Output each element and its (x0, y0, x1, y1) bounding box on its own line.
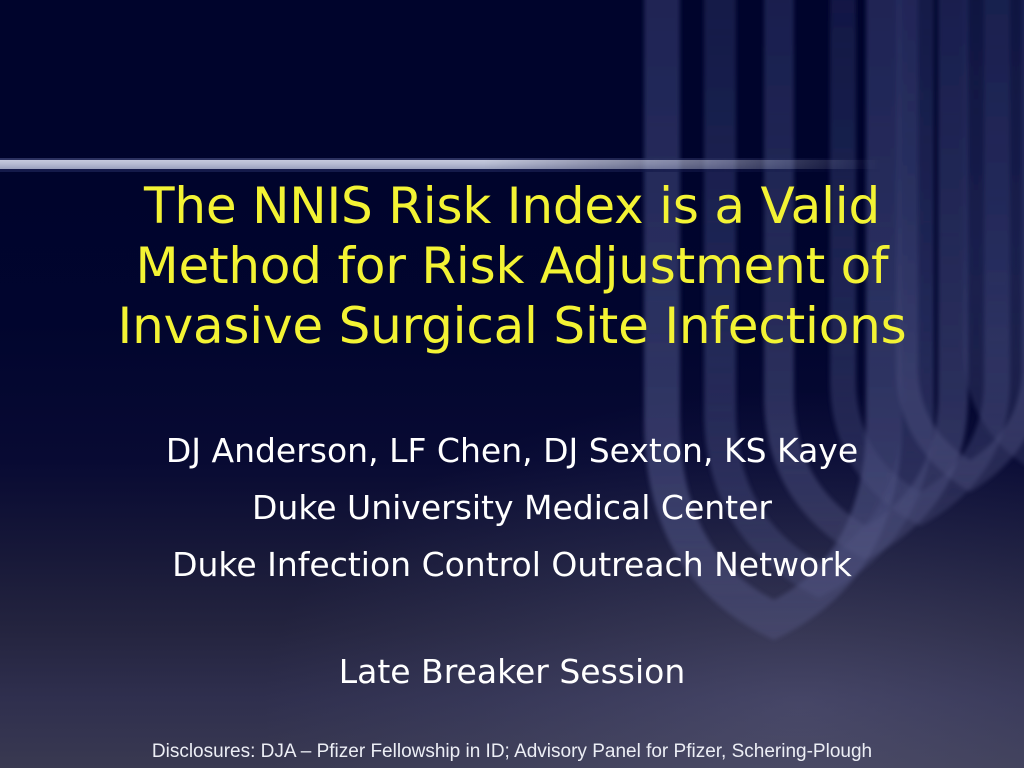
page-title: The NNIS Risk Index is a Valid Method fo… (60, 176, 964, 356)
session-label: Late Breaker Session (60, 650, 964, 694)
disclosure-text: Disclosures: DJA – Pfizer Fellowship in … (60, 740, 964, 764)
title-slide: The NNIS Risk Index is a Valid Method fo… (0, 0, 1024, 768)
title-line-2: Method for Risk Adjustment of (60, 236, 964, 296)
title-line-1: The NNIS Risk Index is a Valid (60, 176, 964, 236)
duke-shield-watermark (634, 0, 1024, 740)
title-line-3: Invasive Surgical Site Infections (60, 296, 964, 356)
authors-block: DJ Anderson, LF Chen, DJ Sexton, KS Kaye… (60, 422, 964, 593)
header-accent-bar (0, 158, 880, 173)
affiliation-primary: Duke University Medical Center (60, 479, 964, 536)
author-names: DJ Anderson, LF Chen, DJ Sexton, KS Kaye (60, 422, 964, 479)
affiliation-secondary: Duke Infection Control Outreach Network (60, 536, 964, 593)
